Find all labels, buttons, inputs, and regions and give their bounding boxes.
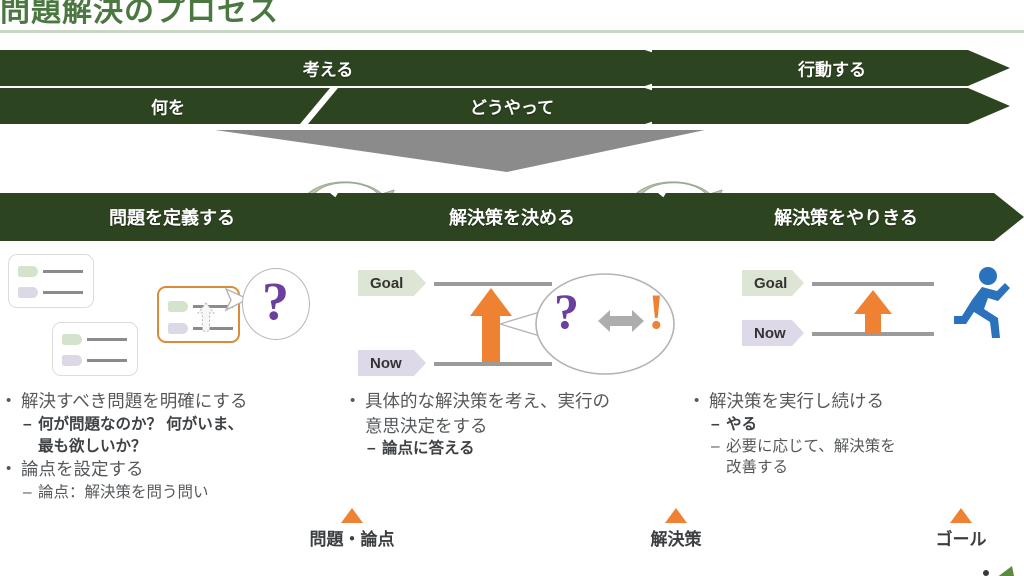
triangle-marker-icon <box>341 508 363 523</box>
question-mark-icon-mid: ? <box>554 286 579 336</box>
card-rule <box>43 291 83 294</box>
card-rule <box>87 338 127 341</box>
bullet-item: • 具体的な解決策を考え、実行の <box>350 390 690 414</box>
bullet-dot: • <box>694 390 709 414</box>
bullet-text: やる <box>726 415 757 436</box>
orange-up-arrow-icon-right <box>854 290 892 334</box>
phase-band-top: 考える 行動する 何を どうやって <box>0 50 1024 124</box>
phase-band-mid: 問題を定義する 解決策を決める 解決策をやりきる <box>0 193 1024 241</box>
bullet-dash: – <box>711 437 726 458</box>
bullet-dash: – <box>367 439 382 460</box>
bullet-text: 何が問題なのか？ 何がいま、 <box>38 415 243 436</box>
bullet-text: 最も欲しいか？ <box>38 437 147 458</box>
now-tag-right: Now <box>742 320 804 346</box>
band-top-label-what: 何を <box>151 94 185 119</box>
goal-tag-label: Goal <box>370 275 403 292</box>
bullet-item-continuation: 意思決定をする <box>350 415 690 439</box>
milestone-marker-issue: 問題・論点 <box>300 508 404 550</box>
band-mid-label-decide: 解決策を決める <box>449 204 575 230</box>
bullets-column-decide: • 具体的な解決策を考え、実行の 意思決定をする – 論点に答える <box>350 390 690 461</box>
card-pill-purple <box>168 323 188 334</box>
band-top-label-act: 行動する <box>798 56 866 81</box>
bullet-text: 解決すべき問題を明確にする <box>21 390 247 414</box>
bullet-text: 解決策を実行し続ける <box>709 390 884 414</box>
slide-canvas: 問題解決のプロセス 考える 行動する 何を どうやって <box>0 0 1024 576</box>
bullet-item: – やる <box>694 415 1024 436</box>
band-mid-label-define: 問題を定義する <box>109 204 235 230</box>
bullet-text: 意思決定をする <box>365 415 488 439</box>
corner-logo-icon <box>978 564 1018 576</box>
bullet-text: 論点を設定する <box>21 458 144 482</box>
bullet-item: • 解決策を実行し続ける <box>694 390 1024 414</box>
goal-line-right <box>812 282 934 286</box>
card-pill-purple <box>62 355 82 366</box>
card-pill-green <box>168 301 188 312</box>
page-title: 問題解決のプロセス <box>0 0 279 30</box>
band-top-label-think: 考える <box>303 56 354 81</box>
bullet-item: – 論点：解決策を問う問い <box>6 483 346 504</box>
bullet-dot: • <box>6 458 21 482</box>
bullet-item: • 論点を設定する <box>6 458 346 482</box>
now-tag-label: Now <box>754 325 786 342</box>
bullet-text: 改善する <box>726 458 788 479</box>
bullet-item: – 何が問題なのか？ 何がいま、 <box>6 415 346 436</box>
bullet-dot: • <box>350 390 365 414</box>
icon-cluster-define: ? <box>0 252 340 382</box>
triangle-marker-icon <box>665 508 687 523</box>
now-tag-label: Now <box>370 355 402 372</box>
bullet-text: 必要に応じて、解決策を <box>726 437 896 458</box>
goal-tag-mid: Goal <box>358 270 426 296</box>
double-arrow-icon <box>598 308 644 334</box>
card-pill-green <box>18 266 38 277</box>
card-pill-green <box>62 334 82 345</box>
bullet-text: 具体的な解決策を考え、実行の <box>365 390 610 414</box>
bullet-dash: – <box>711 415 726 436</box>
bullet-item: – 必要に応じて、解決策を <box>694 437 1024 458</box>
band-top-label-how: どうやって <box>470 94 554 119</box>
issue-card-2 <box>52 322 138 376</box>
band-mid-label-execute: 解決策をやりきる <box>774 204 918 230</box>
triangle-marker-icon <box>950 508 972 523</box>
now-tag-mid: Now <box>358 350 426 376</box>
milestone-label: 問題・論点 <box>300 525 404 550</box>
bullets-column-define: • 解決すべき問題を明確にする – 何が問題なのか？ 何がいま、 最も欲しいか？… <box>6 390 346 505</box>
card-rule <box>43 270 83 273</box>
bullet-text: 論点に答える <box>382 439 475 460</box>
title-divider <box>0 30 1024 33</box>
funnel-triangle-icon <box>215 130 705 172</box>
bullet-dot: • <box>6 390 21 414</box>
running-person-icon <box>948 266 1010 342</box>
milestone-marker-goal: ゴール <box>918 508 1004 550</box>
bullet-item: – 論点に答える <box>350 439 690 460</box>
goal-tag-label: Goal <box>754 275 787 292</box>
bullet-item-continuation: 最も欲しいか？ <box>6 437 346 458</box>
exclamation-mark-icon: ! <box>648 286 665 336</box>
milestone-label: 解決策 <box>624 525 728 550</box>
card-pill-purple <box>18 287 38 298</box>
milestone-marker-solution: 解決策 <box>624 508 728 550</box>
goal-tag-right: Goal <box>742 270 804 296</box>
bullet-item: • 解決すべき問題を明確にする <box>6 390 346 414</box>
bullet-text: 論点：解決策を問う問い <box>38 483 209 504</box>
icon-cluster-decide: Goal Now ? ! <box>348 260 698 380</box>
card-rule <box>87 359 127 362</box>
bullet-dash: – <box>23 415 38 436</box>
issue-card-1 <box>8 254 94 308</box>
bullet-dash: – <box>23 483 38 504</box>
bullet-item-continuation: 改善する <box>694 458 1024 479</box>
milestone-label: ゴール <box>918 525 1004 550</box>
question-mark-icon: ? <box>262 274 289 328</box>
up-arrow-dashed-icon <box>197 302 215 332</box>
icon-cluster-execute: Goal Now <box>736 262 1024 372</box>
bullets-column-execute: • 解決策を実行し続ける – やる – 必要に応じて、解決策を 改善する <box>694 390 1024 480</box>
